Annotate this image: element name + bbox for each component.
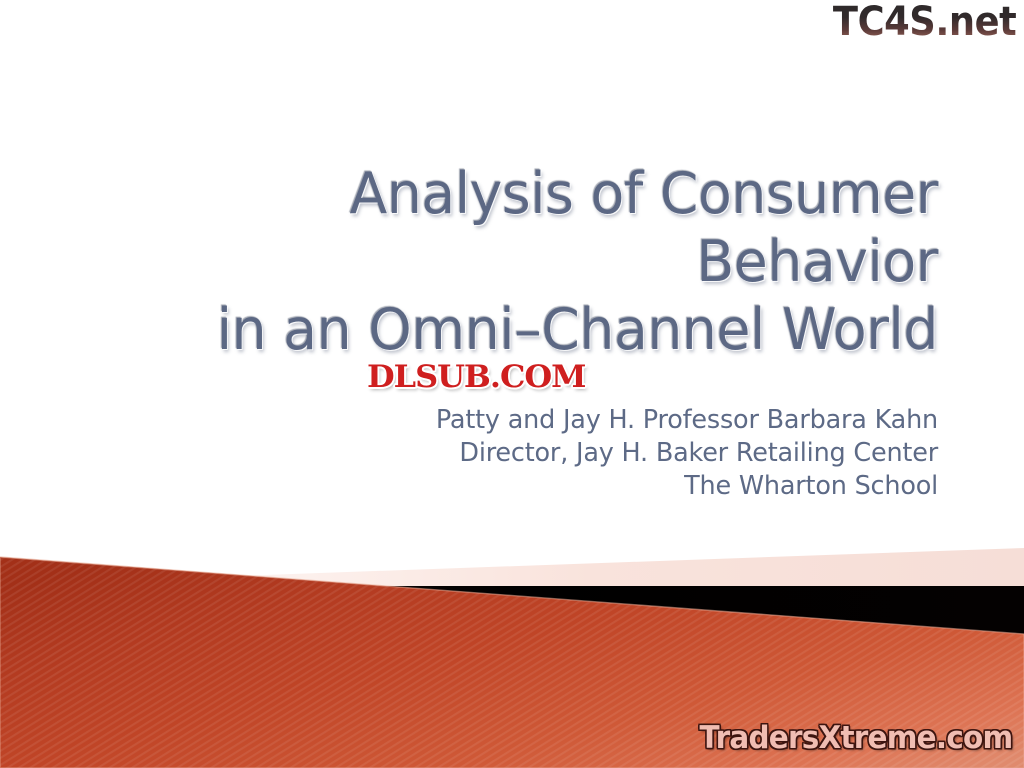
title-line-2: Behavior [152,228,938,296]
title-line-1: Analysis of Consumer [152,160,938,228]
slide-title: Analysis of Consumer Behavior in an Omni… [128,160,938,364]
dlsub-site-watermark: DLSUB.COM [367,362,585,393]
black-wedge [292,586,1024,636]
slide-subtitle: Patty and Jay H. Professor Barbara Kahn … [128,404,938,503]
subtitle-line-role: Director, Jay H. Baker Retailing Center [144,437,938,470]
subtitle-line-institution: The Wharton School [144,470,938,503]
blush-wedge [236,548,1024,586]
tc4s-site-watermark: TC4S.net [833,2,1016,42]
presentation-slide: TC4S.net Analysis of Consumer Behavior i… [0,0,1024,768]
subtitle-line-presenter: Patty and Jay H. Professor Barbara Kahn [144,404,938,437]
tradersxtreme-site-watermark: TradersXtreme.com [699,723,1012,754]
title-line-3: in an Omni–Channel World [152,296,938,364]
